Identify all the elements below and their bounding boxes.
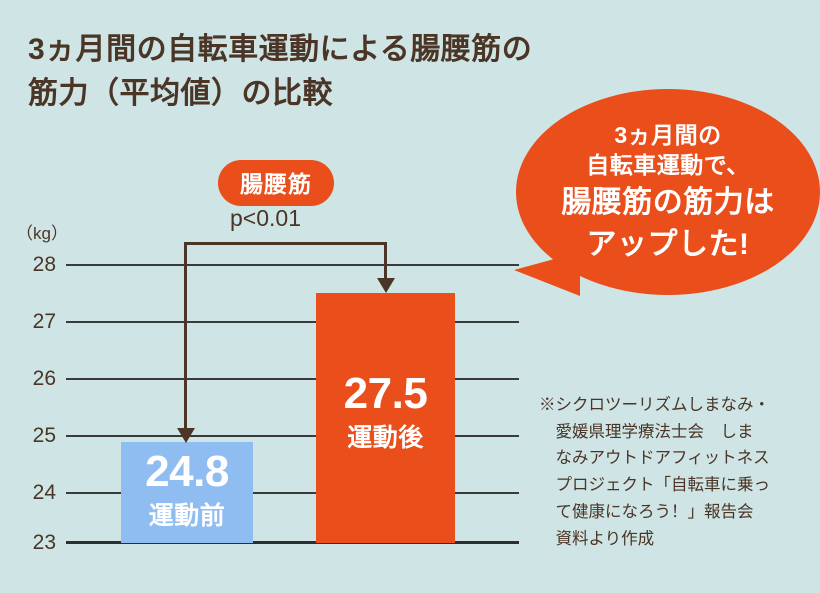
bubble-line-2: 自転車運動で、	[586, 150, 750, 180]
y-tick-27: 27	[12, 310, 56, 334]
bar-after-caption: 運動後	[347, 426, 424, 451]
p-value-label: p<0.01	[230, 205, 301, 232]
y-tick-24: 24	[12, 481, 56, 505]
bar-after-value: 27.5	[344, 372, 428, 416]
bubble-line-3: 腸腰筋の筋力は	[561, 183, 775, 222]
bar-before-value: 24.8	[145, 450, 229, 494]
bubble-line-1: 3ヵ月間の	[614, 120, 721, 150]
arrow-down-right-icon	[377, 278, 395, 293]
bar-before-exercise: 24.8 運動前	[121, 442, 253, 543]
y-tick-23: 23	[12, 531, 56, 555]
y-axis-unit-label: （kg）	[16, 219, 68, 244]
page-title: 3ヵ月間の自転車運動による腸腰筋の 筋力（平均値）の比較	[28, 28, 588, 115]
bar-after-exercise: 27.5 運動後	[316, 293, 455, 543]
bar-before-caption: 運動前	[149, 504, 226, 529]
bracket-left-leg	[184, 242, 187, 440]
arrow-down-left-icon	[177, 428, 195, 443]
y-tick-28: 28	[12, 253, 56, 277]
y-tick-25: 25	[12, 424, 56, 448]
speech-bubble: 3ヵ月間の 自転車運動で、 腸腰筋の筋力は アップした!	[516, 89, 820, 295]
y-tick-26: 26	[12, 367, 56, 391]
bracket-top-line	[184, 242, 387, 245]
significance-bracket	[184, 242, 387, 294]
status-badge-muscle: 腸腰筋	[218, 160, 334, 206]
source-note: ※シクロツーリズムしまなみ・ 愛媛県理学療法士会 しま なみアウトドアフィットネ…	[539, 392, 809, 552]
bubble-line-4: アップした!	[587, 225, 750, 264]
infographic-canvas: 3ヵ月間の自転車運動による腸腰筋の 筋力（平均値）の比較 （kg） 28 27 …	[0, 0, 820, 593]
